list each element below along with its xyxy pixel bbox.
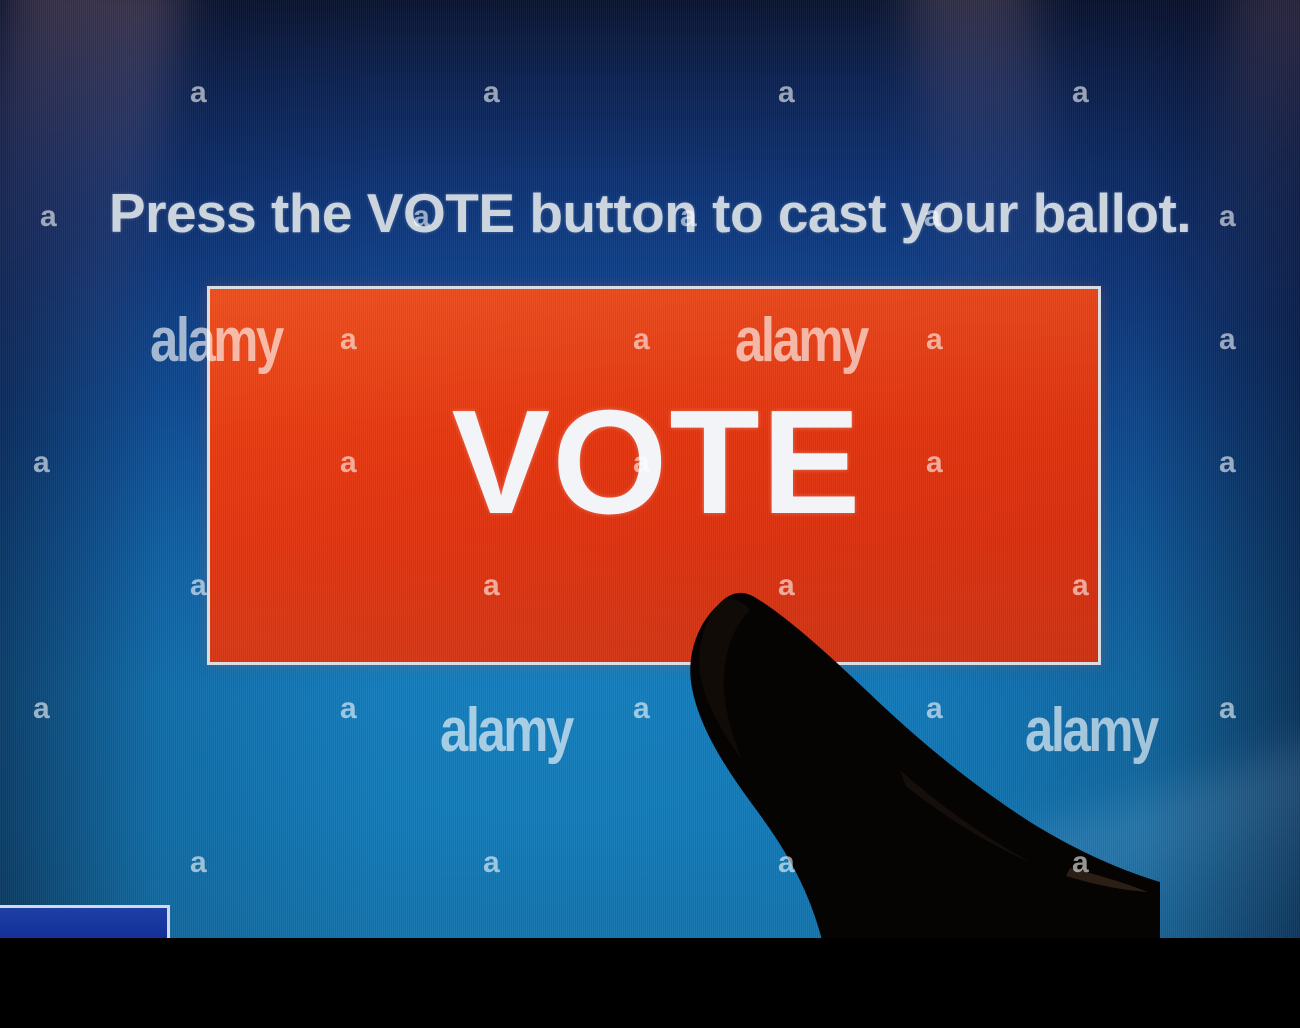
instruction-headline: Press the VOTE button to cast your ballo…: [0, 186, 1300, 241]
stock-photo-canvas: Press the VOTE button to cast your ballo…: [0, 0, 1300, 1028]
alamy-footer-bar: alamy Image ID: CMMEX9 www.alamy.com: [0, 938, 1300, 1028]
secondary-control-panel[interactable]: [0, 905, 170, 938]
vote-button-label: VOTE: [210, 389, 1104, 537]
voting-machine-screen: Press the VOTE button to cast your ballo…: [0, 0, 1300, 938]
vote-button[interactable]: VOTE: [207, 286, 1101, 665]
